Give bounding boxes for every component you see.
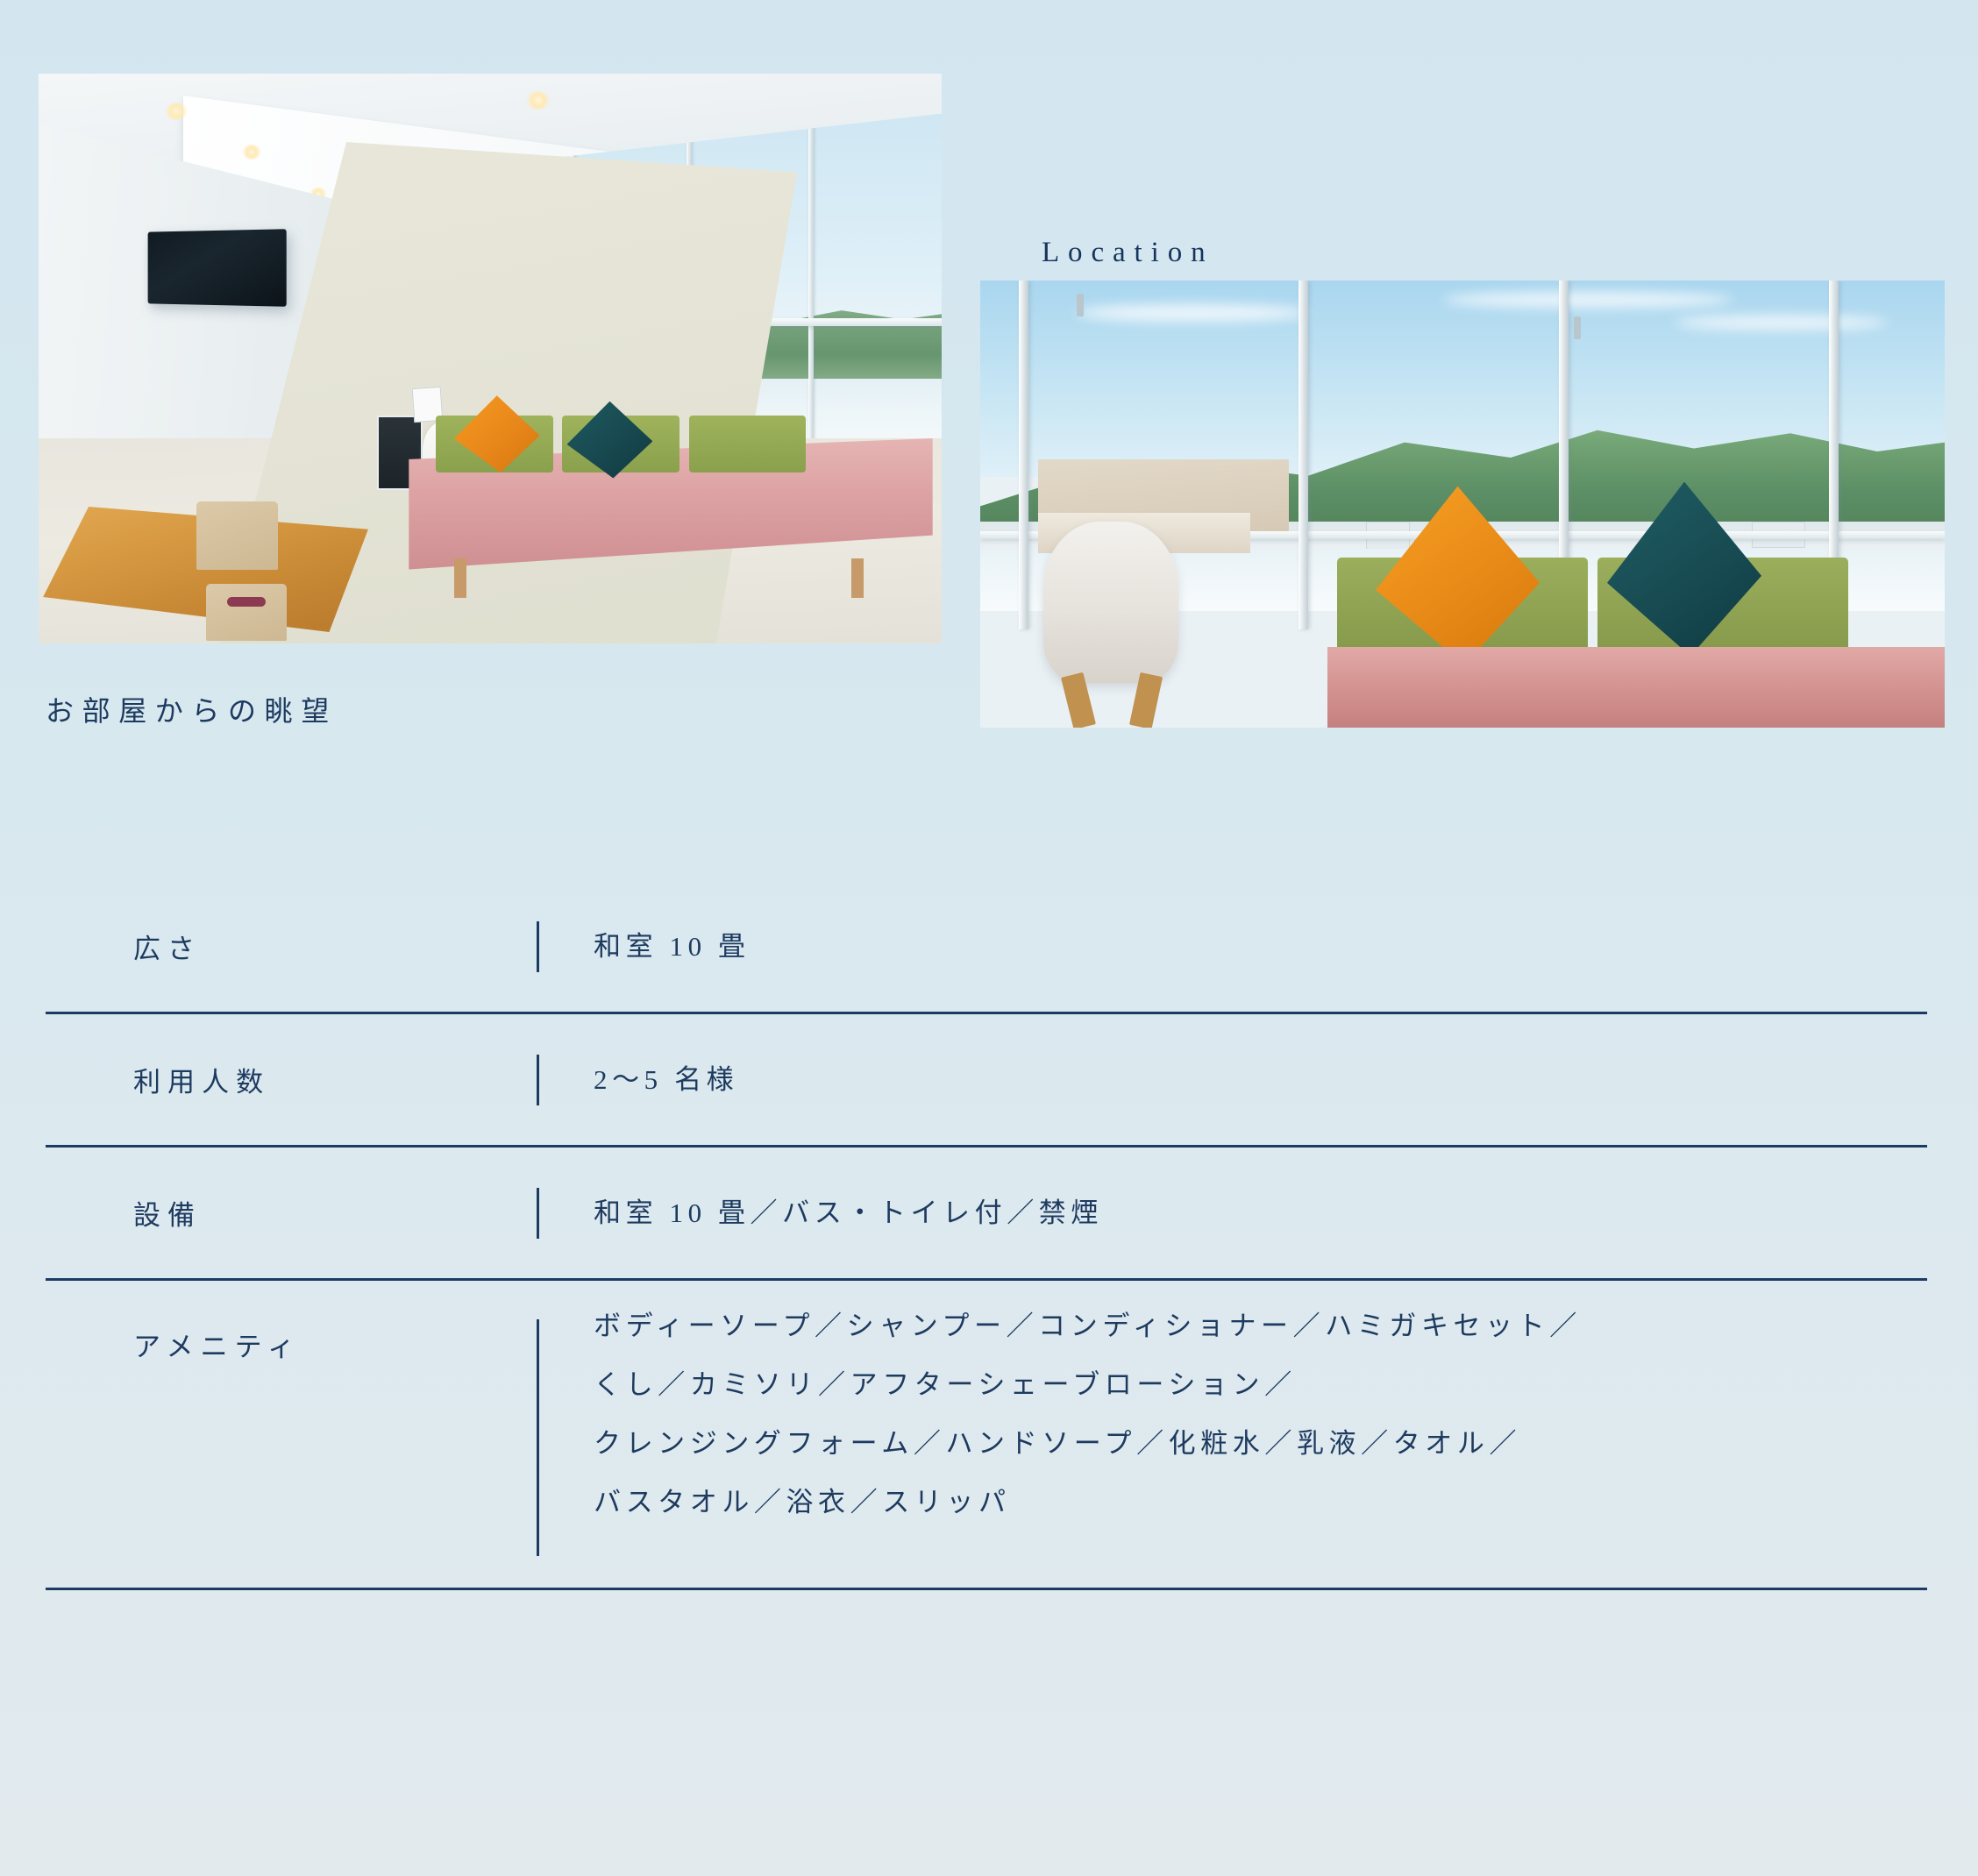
spec-value-line: バスタオル／浴衣／スリッパ [594, 1489, 1927, 1516]
television [148, 229, 287, 306]
spec-value-line: クレンジングフォーム／ハンドソープ／化粧水／乳液／タオル／ [594, 1430, 1927, 1457]
spec-label: 広さ [46, 927, 537, 966]
room-spec-table: 広さ 和室 10 畳 利用人数 2〜5 名様 設備 和室 10 畳／バス・トイレ… [46, 881, 1927, 1590]
spec-row-size: 広さ 和室 10 畳 [46, 881, 1927, 1014]
spec-label: 利用人数 [46, 1060, 537, 1099]
spec-value-line: くし／カミソリ／アフターシェーブローション／ [594, 1371, 1927, 1398]
chair-handle-slot [227, 597, 266, 607]
downlight-icon [242, 145, 261, 160]
bench-leg [454, 558, 466, 599]
location-heading: Location [1042, 237, 1214, 269]
spec-row-capacity: 利用人数 2〜5 名様 [46, 1014, 1927, 1148]
spec-value: 和室 10 畳 [539, 933, 1927, 960]
window-latch-icon [1574, 316, 1581, 339]
white-chair [1043, 522, 1178, 683]
window-bench [1327, 647, 1945, 728]
window-latch-icon [1077, 294, 1084, 316]
floor-chair [206, 584, 288, 641]
spec-label: アメニティ [46, 1312, 537, 1364]
bench-leg [851, 558, 864, 599]
spec-value: ボディーソープ／シャンプー／コンディショナー／ハミガキセット／ くし／カミソリ／… [539, 1312, 1927, 1516]
room-view-caption: お部屋からの眺望 [46, 689, 338, 729]
spec-value-line: 和室 10 畳 [594, 933, 1927, 960]
room-photo[interactable] [39, 74, 942, 643]
spec-value-line: 2〜5 名様 [594, 1066, 1927, 1093]
spec-row-facilities: 設備 和室 10 畳／バス・トイレ付／禁煙 [46, 1148, 1927, 1281]
downlight-icon [165, 103, 188, 120]
floor-chair [196, 501, 278, 570]
location-photo[interactable] [980, 281, 1945, 728]
spec-value-line: 和室 10 畳／バス・トイレ付／禁煙 [594, 1199, 1927, 1226]
spec-value: 和室 10 畳／バス・トイレ付／禁煙 [539, 1199, 1927, 1226]
window-mullion [1299, 281, 1308, 629]
spec-row-amenities: アメニティ ボディーソープ／シャンプー／コンディショナー／ハミガキセット／ くし… [46, 1281, 1927, 1590]
spec-value-line: ボディーソープ／シャンプー／コンディショナー／ハミガキセット／ [594, 1312, 1927, 1339]
green-cushion [689, 416, 807, 473]
cloud [1443, 292, 1733, 308]
cloud [1675, 316, 1887, 330]
downlight-icon [526, 91, 551, 110]
window-mullion [808, 114, 814, 467]
spec-value: 2〜5 名様 [539, 1066, 1927, 1093]
spec-label: 設備 [46, 1193, 537, 1233]
window-mullion [1019, 281, 1028, 629]
cloud [1077, 304, 1308, 322]
